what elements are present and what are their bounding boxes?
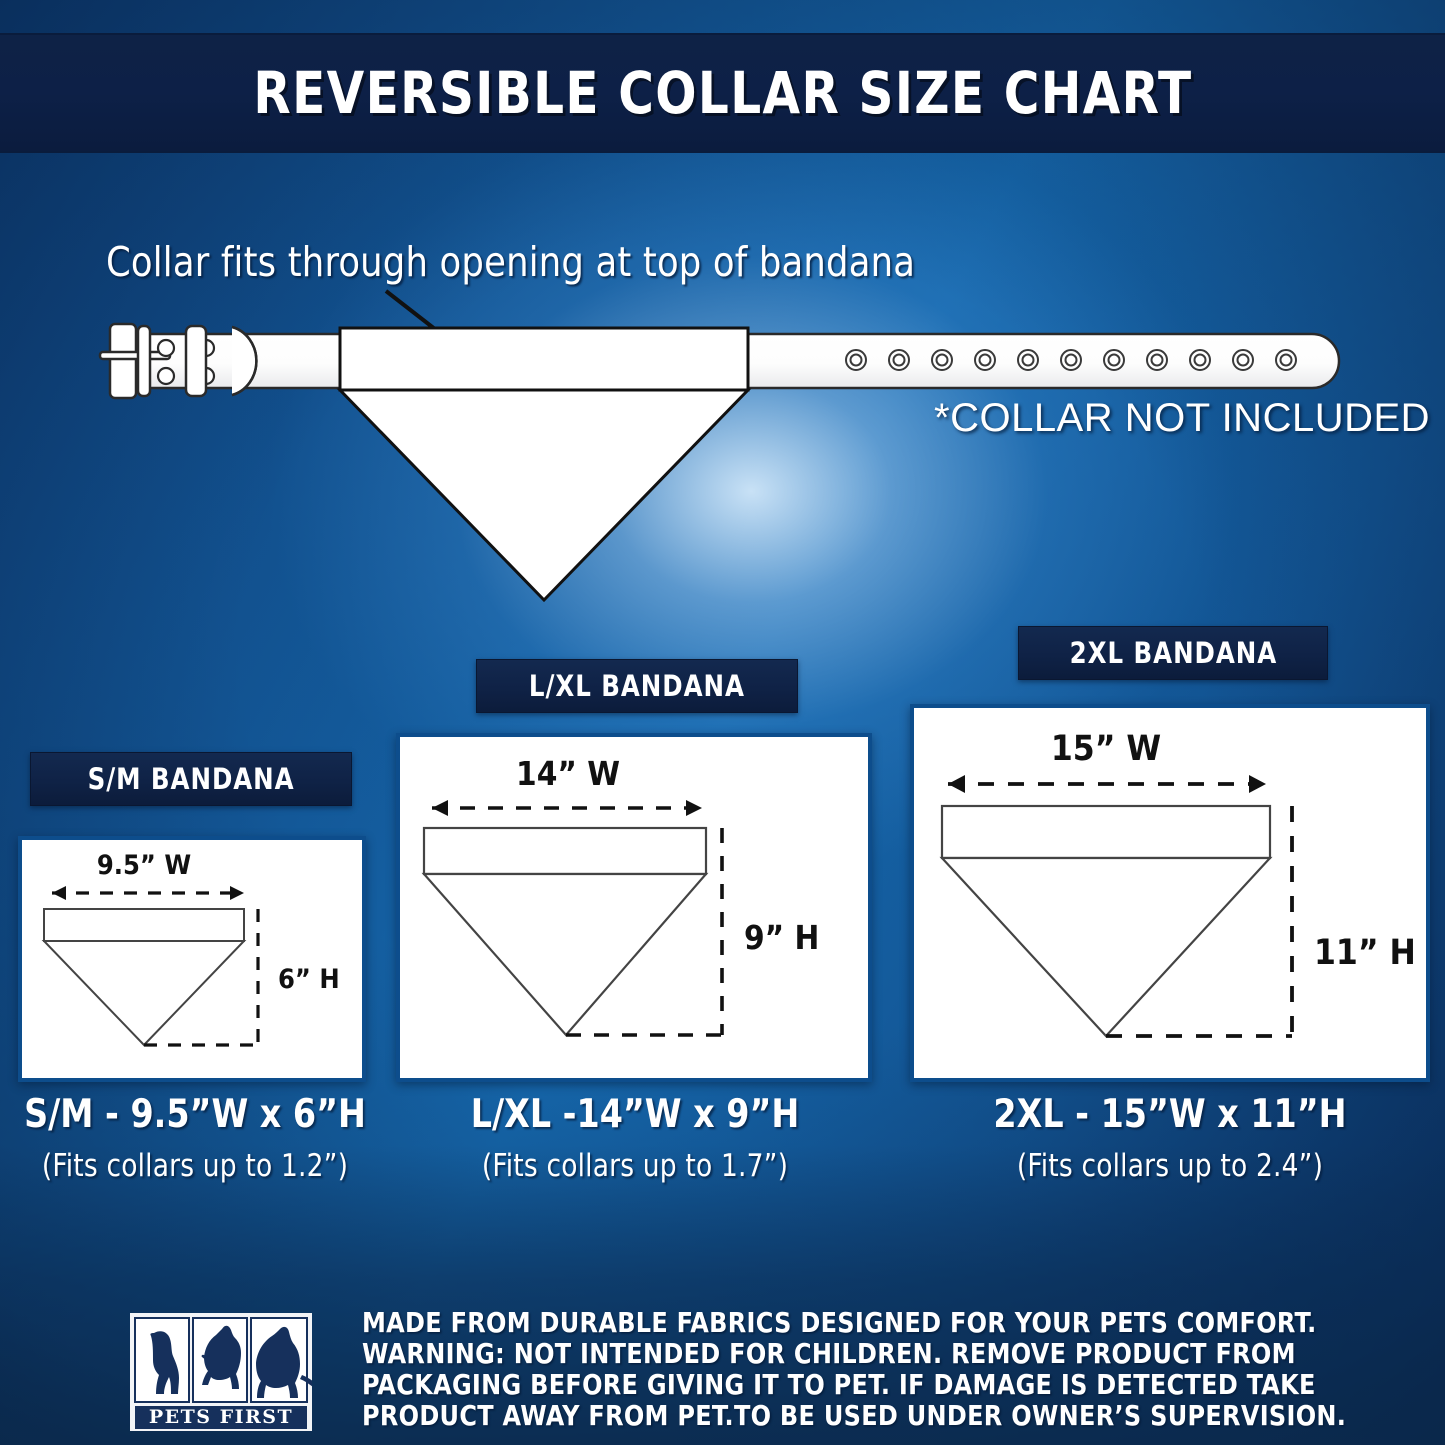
size-caption-sub-sm: (Fits collars up to 1.2”) <box>10 1148 381 1184</box>
collar-not-included-note: *COLLAR NOT INCLUDED <box>934 396 1430 441</box>
size-caption-sub-lxl: (Fits collars up to 1.7”) <box>450 1148 821 1184</box>
size-caption-lxl: L/XL -14”W x 9”H (Fits collars up to 1.7… <box>440 1092 830 1184</box>
size-card-lxl: 14” W 9” H <box>396 733 872 1082</box>
size-caption-main-2xl: 2XL - 15”W x 11”H <box>980 1092 1360 1137</box>
dimension-width-label-2xl: 15” W <box>1051 729 1161 769</box>
size-badge-lxl: L/XL BANDANA <box>476 659 798 713</box>
dimension-width-sm <box>52 886 244 900</box>
size-caption-2xl: 2XL - 15”W x 11”H (Fits collars up to 2.… <box>970 1092 1370 1184</box>
bandana-shape-2xl <box>942 806 1270 1036</box>
size-badge-2xl: 2XL BANDANA <box>1018 626 1328 680</box>
size-card-sm: 9.5” W 6” H <box>18 836 366 1082</box>
dimension-height-label-sm: 6” H <box>278 964 340 995</box>
disclaimer-line-4: PRODUCT AWAY FROM PET.TO BE USED UNDER O… <box>362 1401 1322 1432</box>
size-caption-main-lxl: L/XL -14”W x 9”H <box>450 1092 821 1137</box>
bandana-shape-sm <box>44 909 244 1045</box>
dimension-width-2xl <box>948 775 1266 793</box>
collar-illustration <box>0 0 1445 660</box>
disclaimer-line-1: MADE FROM DURABLE FABRICS DESIGNED FOR Y… <box>362 1308 1322 1339</box>
disclaimer-line-2: WARNING: NOT INTENDED FOR CHILDREN. REMO… <box>362 1339 1322 1370</box>
bandana-shape-lxl <box>424 828 706 1035</box>
bandana-sleeve <box>340 328 748 390</box>
dimension-width-label-sm: 9.5” W <box>97 850 191 881</box>
dimension-height-label-lxl: 9” H <box>744 918 819 957</box>
pets-first-logo: PETS FIRST <box>130 1313 312 1431</box>
dimension-width-label-lxl: 14” W <box>516 754 620 793</box>
size-badge-sm: S/M BANDANA <box>30 752 352 806</box>
size-caption-sm: S/M - 9.5”W x 6”H (Fits collars up to 1.… <box>0 1092 390 1184</box>
size-caption-sub-2xl: (Fits collars up to 2.4”) <box>980 1148 1360 1184</box>
disclaimer-line-3: PACKAGING BEFORE GIVING IT TO PET. IF DA… <box>362 1370 1322 1401</box>
footer-disclaimer: MADE FROM DURABLE FABRICS DESIGNED FOR Y… <box>362 1308 1352 1432</box>
bandana-triangle <box>340 390 748 600</box>
dimension-width-lxl <box>432 800 702 816</box>
size-caption-main-sm: S/M - 9.5”W x 6”H <box>10 1092 381 1137</box>
size-chart-canvas: REVERSIBLE COLLAR SIZE CHART Collar fits… <box>0 0 1445 1445</box>
logo-brand-text: PETS FIRST <box>149 1406 293 1428</box>
size-card-2xl: 15” W 11” H <box>910 704 1430 1082</box>
dimension-height-label-2xl: 11” H <box>1314 933 1416 973</box>
